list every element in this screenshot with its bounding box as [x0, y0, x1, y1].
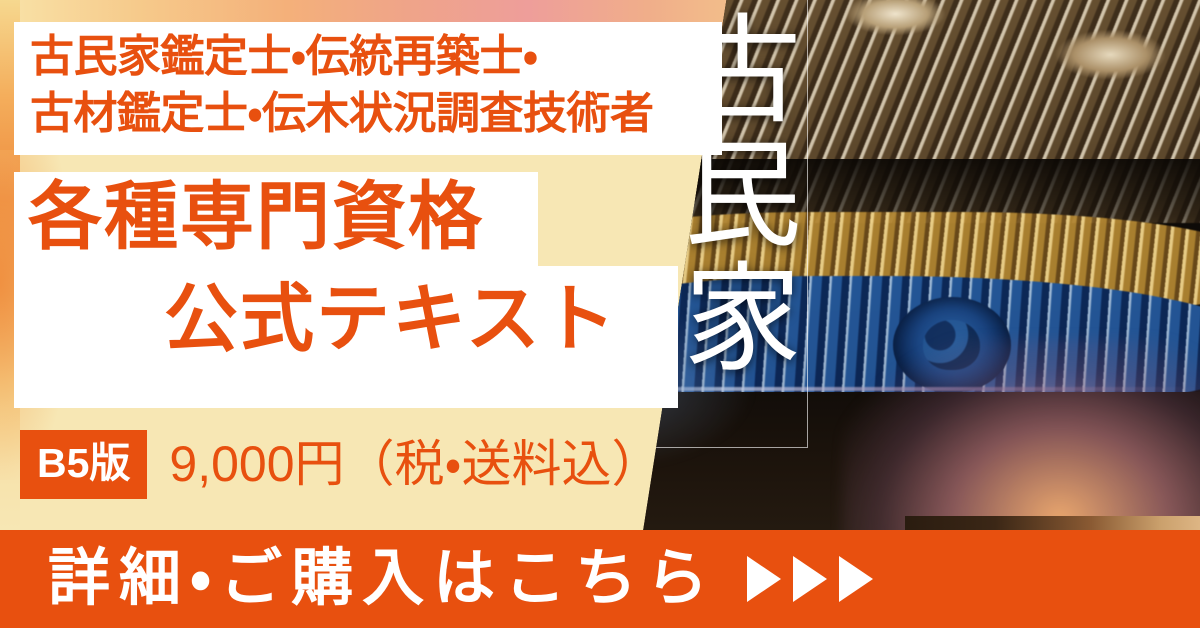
headline-text-group: 各種専門資格 公式テキスト [14, 172, 678, 408]
price-row: B5版 9,000円（税・送料込） [20, 430, 662, 498]
cta-arrow-group [747, 556, 873, 602]
triangle-right-icon [793, 556, 827, 602]
qualifications-panel: 古民家鑑定士・伝統再築士・ 古材鑑定士・伝木状況調査技術者 [14, 22, 722, 155]
cta-label: 詳細・ご購入はこちら [48, 548, 717, 610]
triangle-right-icon [747, 556, 781, 602]
headline-line-2: 公式テキスト [164, 282, 618, 356]
photo-warm-glow [842, 339, 1200, 530]
qualifications-line-1: 古民家鑑定士・伝統再築士・ [30, 28, 653, 85]
cta-bar[interactable]: 詳細・ご購入はこちら [0, 530, 1200, 628]
qualifications-line-2: 古材鑑定士・伝木状況調査技術者 [30, 85, 653, 142]
triangle-right-icon [839, 556, 873, 602]
price-amount: 9,000円（税・送料込） [169, 439, 661, 489]
headline-line-1: 各種専門資格 [28, 180, 484, 254]
cta-notch-strip [905, 516, 1200, 530]
format-badge: B5版 [20, 430, 147, 499]
qualifications-text: 古民家鑑定士・伝統再築士・ 古材鑑定士・伝木状況調査技術者 [30, 28, 653, 142]
promo-banner: 古民家 伝統構法 古民家活用のための調査と再生の 古民家鑑定士・伝統再築士・ 古… [0, 0, 1200, 628]
